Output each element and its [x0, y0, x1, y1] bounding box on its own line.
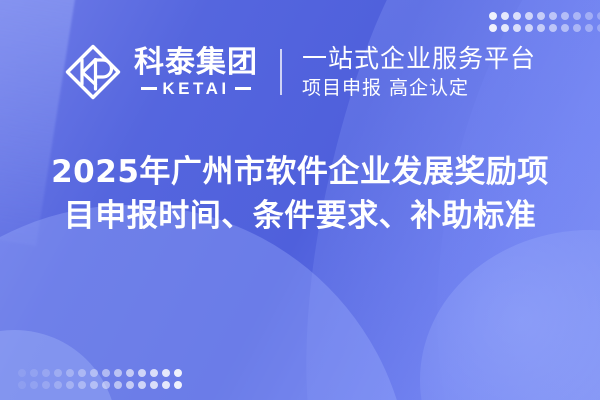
wordmark-rule-right	[235, 87, 251, 90]
decor-dot	[513, 12, 521, 20]
decor-dot	[66, 369, 74, 377]
decor-dot	[549, 24, 557, 32]
decor-dot	[114, 381, 122, 389]
decor-dot	[150, 381, 158, 389]
banner-header: 科泰集团 KETAI 一站式企业服务平台 项目申报 高企认定	[0, 34, 600, 110]
tagline-primary: 一站式企业服务平台	[302, 44, 536, 74]
page-title: 2025年广州市软件企业发展奖励项 目申报时间、条件要求、补助标准	[0, 150, 600, 238]
decor-dot	[525, 24, 533, 32]
decor-dot	[126, 381, 134, 389]
decor-dot	[561, 24, 569, 32]
dot-grid-bottom-left	[18, 369, 182, 389]
decor-dot	[174, 369, 182, 377]
decor-dot	[90, 369, 98, 377]
decor-dot	[585, 12, 593, 20]
decor-dot	[513, 24, 521, 32]
decor-dot	[78, 381, 86, 389]
decor-dot	[42, 381, 50, 389]
decor-dot	[54, 381, 62, 389]
decor-dot	[78, 369, 86, 377]
page-title-line-1: 2025年广州市软件企业发展奖励项	[0, 150, 600, 194]
wordmark-rule-left	[141, 87, 157, 90]
decor-dot	[525, 12, 533, 20]
brand-name-cn: 科泰集团	[134, 47, 258, 79]
decor-dot	[42, 369, 50, 377]
tagline-secondary: 项目申报 高企认定	[302, 77, 536, 100]
decor-dot	[102, 369, 110, 377]
decor-dot	[561, 12, 569, 20]
decor-dot	[150, 369, 158, 377]
decor-right-glow	[420, 230, 600, 400]
decor-dot	[537, 12, 545, 20]
decor-dot	[18, 381, 26, 389]
decor-dot	[30, 381, 38, 389]
decor-dot	[126, 369, 134, 377]
brand-wordmark: 科泰集团 KETAI	[134, 47, 258, 97]
decor-dot	[549, 12, 557, 20]
decor-dot	[18, 369, 26, 377]
header-divider	[280, 49, 282, 95]
ketai-kp-diamond-icon	[62, 41, 124, 103]
decor-dot	[573, 12, 581, 20]
decor-dot	[585, 24, 593, 32]
decor-dot	[501, 24, 509, 32]
brand-logo[interactable]: 科泰集团 KETAI	[62, 41, 258, 103]
decor-dot	[537, 24, 545, 32]
decor-dot	[138, 381, 146, 389]
decor-dot	[54, 369, 62, 377]
tagline: 一站式企业服务平台 项目申报 高企认定	[302, 44, 536, 99]
page-title-line-2: 目申报时间、条件要求、补助标准	[0, 194, 600, 238]
dot-grid-top-right	[489, 12, 600, 32]
decor-circle-small	[0, 330, 117, 400]
decor-dot	[489, 12, 497, 20]
promo-banner: 科泰集团 KETAI 一站式企业服务平台 项目申报 高企认定 2025年广州市软…	[0, 0, 600, 400]
decor-dot	[138, 369, 146, 377]
brand-name-en-row: KETAI	[141, 80, 250, 97]
decor-dot	[489, 24, 497, 32]
brand-name-en: KETAI	[162, 80, 229, 97]
decor-dot	[102, 381, 110, 389]
decor-dot	[114, 369, 122, 377]
decor-dot	[66, 381, 74, 389]
decor-dot	[501, 12, 509, 20]
decor-dot	[174, 381, 182, 389]
decor-dot	[573, 24, 581, 32]
decor-dot	[90, 381, 98, 389]
decor-dot	[162, 381, 170, 389]
decor-dot	[162, 369, 170, 377]
decor-dot	[30, 369, 38, 377]
